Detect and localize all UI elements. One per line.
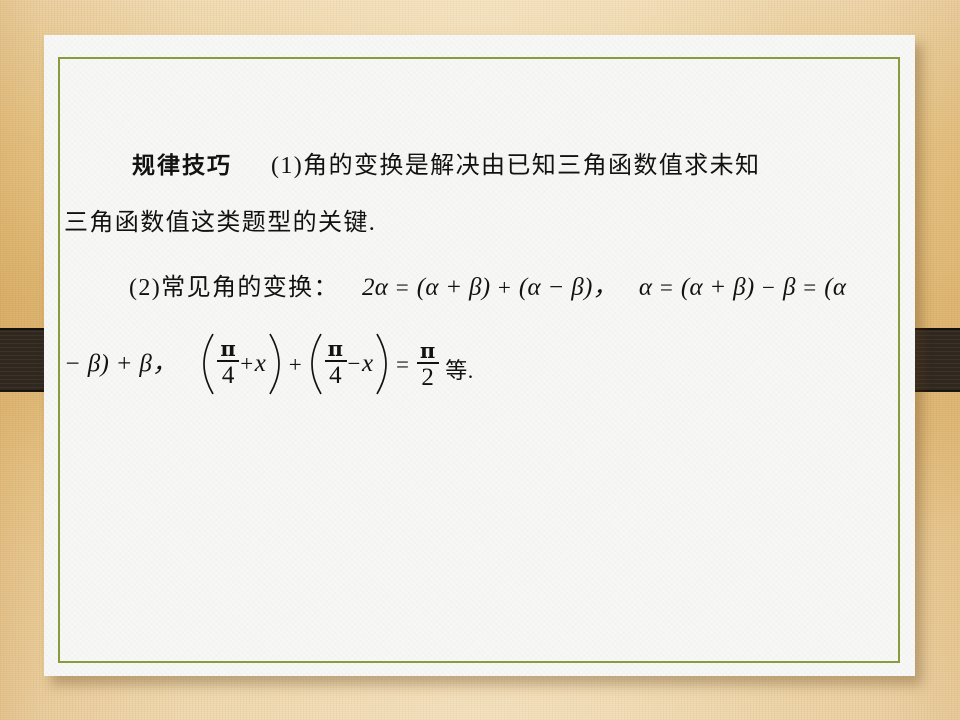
text-line-4: − β) + β， π 4 + [64,335,474,397]
fraction-numerator: π [325,338,347,360]
formula-beta-term: β [783,274,796,301]
tip-heading: 规律技巧 [132,153,232,179]
formula-group-pi-over-4-plus-x: π 4 + x [202,333,281,395]
left-paren-icon [202,333,215,395]
equals-sign-3: = [802,275,817,300]
slide-body: 规律技巧 (1)角的变换是解决由已知三角函数值求未知 三角函数值这类题型的关键.… [44,35,915,676]
equals-sign-4: = [395,352,410,377]
fraction-pi-over-4-a: π 4 [217,338,239,388]
formula-alpha-plus-beta-1: (α + β) [417,274,491,301]
equals-sign-1: = [395,275,410,300]
formula-alpha-minus-beta: (α − β)， [519,274,618,301]
tip-point-1-part-2: 三角函数值这类题型的关键. [64,210,376,236]
formula-2alpha-lhs: 2α [362,274,388,301]
equals-sign-2: = [659,275,674,300]
right-paren-icon [375,333,388,395]
right-paren-icon [268,333,281,395]
text-line-3: (2)常见角的变换： 2α = (α + β) + (α − β)， α = (… [129,267,846,303]
group1-variable: x [255,350,266,378]
plus-sign-between-groups: + [288,352,303,377]
group1-operator: + [239,351,254,377]
fraction-pi-over-2: π 2 [417,340,439,390]
group2-operator: − [347,351,362,377]
fraction-numerator: π [217,338,239,360]
fraction-numerator: π [417,340,439,362]
fraction-denominator: 4 [326,362,345,388]
left-paren-icon [310,333,323,395]
formula-group-pi-over-4-minus-x: π 4 − x [310,333,389,395]
text-line-2: 三角函数值这类题型的关键. [64,202,376,237]
minus-sign-1: − [761,275,776,300]
tip-point-2-label: (2)常见角的变换： [129,275,339,301]
fraction-and-term: π 4 + x [215,339,268,389]
formula-continuation: − β) + β， [64,351,177,378]
slide-canvas: 规律技巧 (1)角的变换是解决由已知三角函数值求未知 三角函数值这类题型的关键.… [0,0,960,720]
formula-open-alpha: (α [824,274,846,301]
fraction-and-term: π 4 − x [323,339,376,389]
fraction-denominator: 4 [219,362,238,388]
fraction-pi-over-4-b: π 4 [325,338,347,388]
fraction-denominator: 2 [418,364,437,390]
formula-alpha-plus-beta-2: (α + β) [681,274,755,301]
formula-tail-deng: 等. [445,358,474,383]
tip-point-1-part-1: (1)角的变换是解决由已知三角函数值求未知 [271,153,760,179]
formula-alpha-lhs: α [639,274,652,301]
plus-sign-1: + [497,275,512,300]
content-card: 规律技巧 (1)角的变换是解决由已知三角函数值求未知 三角函数值这类题型的关键.… [44,35,915,676]
text-line-1: 规律技巧 (1)角的变换是解决由已知三角函数值求未知 [132,145,760,180]
group2-variable: x [362,350,373,378]
